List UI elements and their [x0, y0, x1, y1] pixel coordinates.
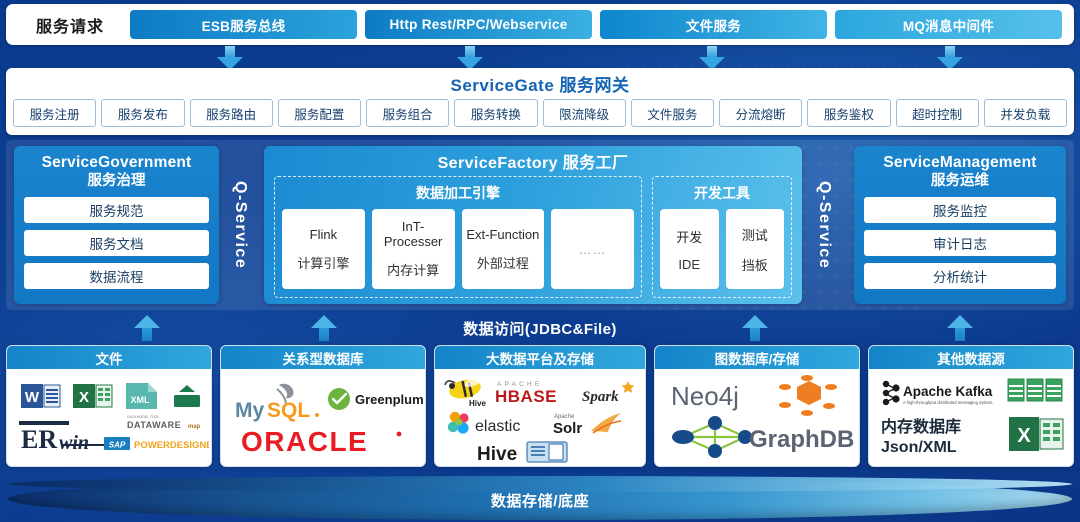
source-card-others-title: 其他数据源 — [869, 346, 1073, 369]
source-card-rdbms-body: My SQL Greenplum ORACLE — [221, 369, 425, 467]
source-card-bigdata-body: Hive APACHE HBASE Spark elastic — [435, 369, 645, 467]
service-gate-title: ServiceGate 服务网关 — [6, 68, 1074, 99]
svg-text:Solr: Solr — [553, 420, 582, 437]
excel-icon: X — [1009, 415, 1065, 455]
service-government-card: ServiceGovernment 服务治理 服务规范 服务文档 数据流程 — [14, 146, 219, 304]
engine-flink-name: Flink — [310, 227, 337, 242]
capability-service-register[interactable]: 服务注册 — [13, 99, 96, 127]
channel-mq[interactable]: MQ消息中间件 — [835, 10, 1062, 39]
word-icon: W — [21, 383, 61, 409]
flow-arrow-up-2 — [311, 315, 337, 341]
flow-arrow-up-3 — [742, 315, 768, 341]
flow-arrow-down-1 — [217, 46, 243, 70]
other-source-json-xml: Json/XML — [881, 439, 957, 457]
engine-int-processer-name: InT-Processer — [376, 219, 451, 249]
tool-dev-desc: IDE — [678, 257, 700, 272]
service-factory-card: ServiceFactory 服务工厂 数据加工引擎 Flink 计算引擎 In… — [264, 146, 802, 304]
flow-arrow-down-2 — [457, 46, 483, 70]
capability-circuit-breaker[interactable]: 分流熔断 — [719, 99, 802, 127]
svg-text:Greenplum: Greenplum — [355, 392, 423, 407]
green-drive-icon — [170, 382, 204, 410]
service-management-title-cn: 服务运维 — [864, 173, 1056, 191]
svg-text:ORACLE: ORACLE — [241, 426, 368, 457]
svg-text:Spark: Spark — [582, 389, 619, 405]
q-service-right-label: Q-Service — [806, 146, 842, 304]
elastic-logo: elastic — [445, 409, 561, 437]
engine-ext-function-desc: 外部过程 — [477, 253, 529, 272]
svg-text:win: win — [59, 432, 89, 453]
service-factory-body: 数据加工引擎 Flink 计算引擎 InT-Processer 内存计算 Ext… — [264, 176, 802, 308]
neo4j-logo: Neo4j — [669, 377, 765, 413]
flow-arrow-down-4 — [937, 46, 963, 70]
service-request-label: 服务请求 — [14, 13, 126, 37]
source-card-files-title: 文件 — [7, 346, 211, 369]
green-table-icon — [1007, 377, 1065, 403]
solr-logo: Apache Solr — [553, 409, 639, 439]
base-label: 数据存储/底座 — [0, 490, 1080, 511]
svg-text:W: W — [25, 389, 40, 406]
dev-tools-title: 开发工具 — [660, 183, 784, 203]
source-card-bigdata[interactable]: 大数据平台及存储 Hive APACHE HBASE Spark — [434, 345, 646, 467]
oracle-logo: ORACLE — [239, 424, 411, 458]
svg-text:ER: ER — [21, 425, 57, 453]
governance-item-dataflow[interactable]: 数据流程 — [24, 263, 209, 289]
capability-file-service[interactable]: 文件服务 — [631, 99, 714, 127]
channel-file-service[interactable]: 文件服务 — [600, 10, 827, 39]
management-item-audit-log[interactable]: 审计日志 — [864, 230, 1056, 256]
service-gate-panel: ServiceGate 服务网关 服务注册 服务发布 服务路由 服务配置 服务组… — [6, 68, 1074, 135]
svg-text:A high-throughput distributed: A high-throughput distributed messaging … — [903, 400, 994, 405]
data-processing-engine-items: Flink 计算引擎 InT-Processer 内存计算 Ext-Functi… — [282, 209, 634, 289]
spark-logo: Spark — [581, 377, 639, 405]
excel-icon: X — [73, 383, 113, 409]
svg-text:Hive: Hive — [477, 444, 517, 465]
management-item-monitor[interactable]: 服务监控 — [864, 197, 1056, 223]
source-card-others-body: Apache Kafka A high-throughput distribut… — [869, 369, 1073, 467]
flow-arrow-up-1 — [134, 315, 160, 341]
q-service-left-label: Q-Service — [222, 146, 258, 304]
source-card-graphdb-title: 图数据库/存储 — [655, 346, 859, 369]
tool-test-desc: 挡板 — [742, 255, 768, 274]
channel-http-rest[interactable]: Http Rest/RPC/Webservice — [365, 10, 592, 39]
management-item-analytics[interactable]: 分析统计 — [864, 263, 1056, 289]
data-storage-base: 数据存储/底座 — [0, 476, 1080, 522]
capability-service-compose[interactable]: 服务组合 — [366, 99, 449, 127]
governance-item-docs[interactable]: 服务文档 — [24, 230, 209, 256]
svg-text:X: X — [79, 389, 89, 406]
engine-int-processer-desc: 内存计算 — [387, 260, 439, 279]
svg-text:HBASE: HBASE — [495, 387, 557, 405]
svg-text:SAP: SAP — [109, 441, 126, 450]
svg-text:DATA MODEL TOOL: DATA MODEL TOOL — [127, 415, 159, 419]
tool-test-name: 测试 — [742, 225, 768, 244]
svg-text:POWERDESIGNER: POWERDESIGNER — [134, 440, 209, 451]
graphdb-logo: GraphDB — [747, 421, 859, 455]
svg-text:My: My — [235, 399, 264, 422]
q-service-right-text: Q-Service — [815, 181, 833, 269]
svg-text:X: X — [1017, 425, 1031, 447]
svg-text:Apache Kafka: Apache Kafka — [903, 384, 993, 399]
kafka-logo: Apache Kafka A high-throughput distribut… — [879, 379, 1001, 409]
engine-flink[interactable]: Flink 计算引擎 — [282, 209, 365, 289]
data-processing-engine-group: 数据加工引擎 Flink 计算引擎 InT-Processer 内存计算 Ext… — [274, 176, 642, 298]
capability-service-config[interactable]: 服务配置 — [278, 99, 361, 127]
other-source-memory-db: 内存数据库 — [881, 413, 961, 437]
capability-concurrency-load[interactable]: 并发负载 — [984, 99, 1067, 127]
service-gate-capability-list: 服务注册 服务发布 服务路由 服务配置 服务组合 服务转换 限流降级 文件服务 … — [6, 99, 1074, 127]
engine-flink-desc: 计算引擎 — [297, 253, 349, 272]
tool-dev-name: 开发 — [676, 227, 702, 246]
source-card-graphdb-body: Neo4j — [655, 369, 859, 467]
data-access-label: 数据访问(JDBC&File) — [463, 318, 617, 339]
data-processing-engine-title: 数据加工引擎 — [282, 183, 634, 203]
svg-text:Neo4j: Neo4j — [671, 381, 739, 411]
capability-service-transform[interactable]: 服务转换 — [454, 99, 537, 127]
service-factory-title: ServiceFactory 服务工厂 — [264, 146, 802, 176]
source-card-rdbms-title: 关系型数据库 — [221, 346, 425, 369]
svg-text:Hive: Hive — [469, 399, 486, 408]
service-government-title-cn: 服务治理 — [24, 173, 209, 191]
capability-service-auth[interactable]: 服务鉴权 — [807, 99, 890, 127]
hive-logo: Hive — [475, 439, 605, 465]
svg-text:map: map — [188, 424, 201, 430]
hive-bee-logo: Hive — [443, 375, 495, 409]
engine-ext-function[interactable]: Ext-Function 外部过程 — [462, 209, 545, 289]
engine-int-processer[interactable]: InT-Processer 内存计算 — [372, 209, 455, 289]
hbase-logo: APACHE HBASE — [495, 377, 577, 405]
platform-core-row: ServiceGovernment 服务治理 服务规范 服务文档 数据流程 Q-… — [6, 140, 1074, 310]
xml-file-icon: XML — [124, 382, 160, 410]
source-card-graphdb[interactable]: 图数据库/存储 Neo4j — [654, 345, 860, 467]
mysql-logo: My SQL — [233, 379, 323, 423]
source-card-rdbms[interactable]: 关系型数据库 My SQL Greenplum ORACLE — [220, 345, 426, 467]
q-service-left-text: Q-Service — [231, 181, 249, 269]
flow-arrow-up-4 — [947, 315, 973, 341]
tool-test-mock[interactable]: 测试 挡板 — [726, 209, 785, 289]
service-management-card: ServiceManagement 服务运维 服务监控 审计日志 分析统计 — [854, 146, 1066, 304]
graphdb-mark-icon — [763, 375, 847, 417]
greenplum-logo: Greenplum — [327, 386, 423, 412]
source-card-files-body: W X XML — [7, 369, 211, 467]
service-management-title: ServiceManagement 服务运维 — [864, 154, 1056, 191]
channel-esb[interactable]: ESB服务总线 — [130, 10, 357, 39]
data-access-band: 数据访问(JDBC&File) — [0, 312, 1080, 344]
svg-text:SQL: SQL — [267, 399, 310, 422]
source-card-files[interactable]: 文件 W X XML — [6, 345, 212, 467]
svg-text:GraphDB: GraphDB — [749, 426, 854, 453]
source-card-others[interactable]: 其他数据源 Apache Kafka A high-throughput dis… — [868, 345, 1074, 467]
dataware-logo: DATA MODEL TOOL DATAWARE map — [125, 413, 205, 431]
flow-arrow-down-3 — [699, 46, 725, 70]
architecture-diagram: 服务请求 ESB服务总线 Http Rest/RPC/Webservice 文件… — [0, 0, 1080, 522]
svg-text:XML: XML — [131, 395, 151, 405]
capability-service-routing[interactable]: 服务路由 — [190, 99, 273, 127]
tool-dev-ide[interactable]: 开发 IDE — [660, 209, 719, 289]
service-government-title-en: ServiceGovernment — [24, 154, 209, 173]
sap-powerdesigner-logo: SAP POWERDESIGNER — [103, 434, 209, 454]
capability-rate-limit[interactable]: 限流降级 — [543, 99, 626, 127]
governance-item-spec[interactable]: 服务规范 — [24, 197, 209, 223]
svg-text:DATAWARE: DATAWARE — [127, 420, 181, 430]
svg-text:elastic: elastic — [475, 418, 520, 435]
engine-more[interactable]: …… — [551, 209, 634, 289]
service-request-bar: 服务请求 ESB服务总线 Http Rest/RPC/Webservice 文件… — [6, 4, 1074, 45]
capability-timeout-control[interactable]: 超时控制 — [896, 99, 979, 127]
engine-ext-function-name: Ext-Function — [466, 227, 539, 242]
service-government-title: ServiceGovernment 服务治理 — [24, 154, 209, 191]
service-management-title-en: ServiceManagement — [864, 154, 1056, 173]
source-card-bigdata-title: 大数据平台及存储 — [435, 346, 645, 369]
dev-tools-group: 开发工具 开发 IDE 测试 挡板 — [652, 176, 792, 298]
dev-tools-items: 开发 IDE 测试 挡板 — [660, 209, 784, 289]
capability-service-publish[interactable]: 服务发布 — [101, 99, 184, 127]
